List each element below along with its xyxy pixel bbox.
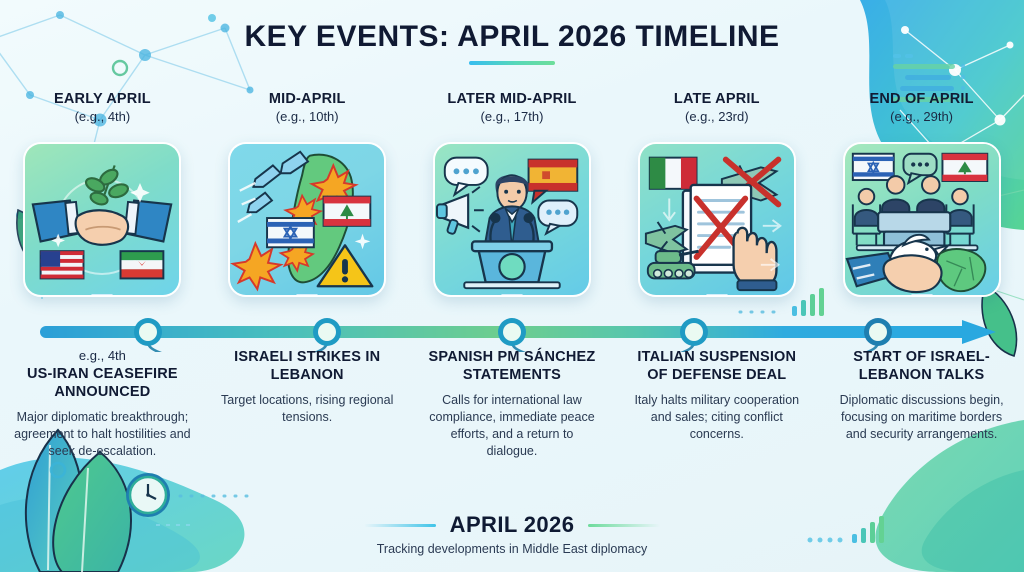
card-pointer-3 [501, 294, 523, 297]
event-description-4: Italy halts military cooperation and sal… [628, 392, 805, 443]
timeline-columns: EARLY APRIL (e.g., 4th) [0, 90, 1024, 310]
column-header-3: LATER MID-APRIL (e.g., 17th) [418, 90, 607, 138]
timeline-marker-4 [680, 318, 708, 346]
israel-flag [267, 218, 314, 247]
speech-bubble-small-icon [538, 201, 577, 234]
event-text-4: ITALIAN SUSPENSION OF DEFENSE DEAL Italy… [614, 348, 819, 508]
event-text-2: ISRAELI STRIKES IN LEBANON Target locati… [205, 348, 410, 508]
event-description-5: Diplomatic discussions begin, focusing o… [833, 392, 1010, 443]
infographic-canvas: KEY EVENTS: APRIL 2026 TIMELINE EARLY AP… [0, 0, 1024, 572]
event-date-note-1: e.g., 4th [14, 348, 191, 363]
footer-subtitle: Tracking developments in Middle East dip… [0, 542, 1024, 556]
speech-bubble-icon [445, 158, 488, 195]
column-date-note-1: (e.g., 4th) [8, 108, 197, 126]
page-title: KEY EVENTS: APRIL 2026 TIMELINE [0, 20, 1024, 54]
card-pointer-5 [911, 294, 933, 297]
column-header-2: MID-APRIL (e.g., 10th) [213, 90, 402, 138]
timeline-marker-3 [498, 318, 526, 346]
italy-flag [650, 158, 697, 189]
timeline-column-4: LATE APRIL (e.g., 23rd) [614, 90, 819, 310]
event-title-4: ITALIAN SUSPENSION OF DEFENSE DEAL [628, 348, 805, 384]
column-date-note-2: (e.g., 10th) [213, 108, 402, 126]
timeline-marker-5 [864, 318, 892, 346]
podium-speaker-speech-bubbles-icon [435, 144, 589, 295]
event-description-2: Target locations, rising regional tensio… [219, 392, 396, 426]
event-text-3: SPANISH PM SÁNCHEZ STATEMENTS Calls for … [410, 348, 615, 508]
lebanon-flag [942, 154, 987, 181]
lebanon-flag [324, 197, 371, 226]
iran-flag [121, 251, 164, 278]
title-block: KEY EVENTS: APRIL 2026 TIMELINE [0, 20, 1024, 65]
timeline-column-1: EARLY APRIL (e.g., 4th) [0, 90, 205, 310]
column-header-5: END OF APRIL (e.g., 29th) [827, 90, 1016, 138]
column-date-note-5: (e.g., 29th) [827, 108, 1016, 126]
event-image-card-1[interactable] [23, 142, 181, 297]
card-pointer-1 [91, 294, 113, 297]
column-period-4: LATE APRIL [622, 90, 811, 108]
aircraft-icon [646, 222, 687, 253]
timeline-column-2: MID-APRIL (e.g., 10th) [205, 90, 410, 310]
column-date-note-3: (e.g., 17th) [418, 108, 607, 126]
column-header-4: LATE APRIL (e.g., 23rd) [622, 90, 811, 138]
footer-rule-right [588, 524, 660, 527]
event-text-5: START OF ISRAEL-LEBANON TALKS Diplomatic… [819, 348, 1024, 508]
handshake-olive-branch-flags-icon [25, 144, 179, 295]
footer-rule-left [364, 524, 436, 527]
event-image-card-4[interactable] [638, 142, 796, 297]
event-title-5: START OF ISRAEL-LEBANON TALKS [833, 348, 1010, 384]
card-pointer-2 [296, 294, 318, 297]
spain-flag [529, 160, 578, 203]
event-text-blocks: e.g., 4th US-IRAN CEASEFIRE ANNOUNCED Ma… [0, 348, 1024, 508]
stop-hand-icon [733, 228, 776, 290]
olive-branch [84, 165, 130, 206]
event-image-card-2[interactable] [228, 142, 386, 297]
column-period-3: LATER MID-APRIL [418, 90, 607, 108]
column-header-1: EARLY APRIL (e.g., 4th) [8, 90, 197, 138]
cancelled-arms-deal-icon [640, 144, 794, 295]
timeline-column-5: END OF APRIL (e.g., 29th) [819, 90, 1024, 310]
event-description-3: Calls for international law compliance, … [424, 392, 601, 460]
column-period-5: END OF APRIL [827, 90, 1016, 108]
timeline-marker-2 [313, 318, 341, 346]
missiles-map-explosions-icon [230, 144, 384, 295]
column-period-2: MID-APRIL [213, 90, 402, 108]
timeline-marker-1 [134, 318, 162, 346]
event-text-1: e.g., 4th US-IRAN CEASEFIRE ANNOUNCED Ma… [0, 348, 205, 508]
event-title-3: SPANISH PM SÁNCHEZ STATEMENTS [424, 348, 601, 384]
event-image-card-3[interactable] [433, 142, 591, 297]
event-title-2: ISRAELI STRIKES IN LEBANON [219, 348, 396, 384]
timeline-axis [0, 312, 1024, 352]
column-period-1: EARLY APRIL [8, 90, 197, 108]
footer-block: APRIL 2026 Tracking developments in Midd… [0, 512, 1024, 556]
event-image-card-5[interactable] [843, 142, 1001, 297]
event-title-1: US-IRAN CEASEFIRE ANNOUNCED [14, 365, 191, 401]
footer-title: APRIL 2026 [450, 512, 575, 538]
event-description-1: Major diplomatic breakthrough; agreement… [14, 409, 191, 460]
megaphone-icon [437, 187, 484, 235]
title-underline [469, 61, 555, 65]
negotiation-table-dove-icon [845, 144, 999, 295]
column-date-note-4: (e.g., 23rd) [622, 108, 811, 126]
israel-flag [852, 154, 893, 180]
card-pointer-4 [706, 294, 728, 297]
timeline-column-3: LATER MID-APRIL (e.g., 17th) [410, 90, 615, 310]
